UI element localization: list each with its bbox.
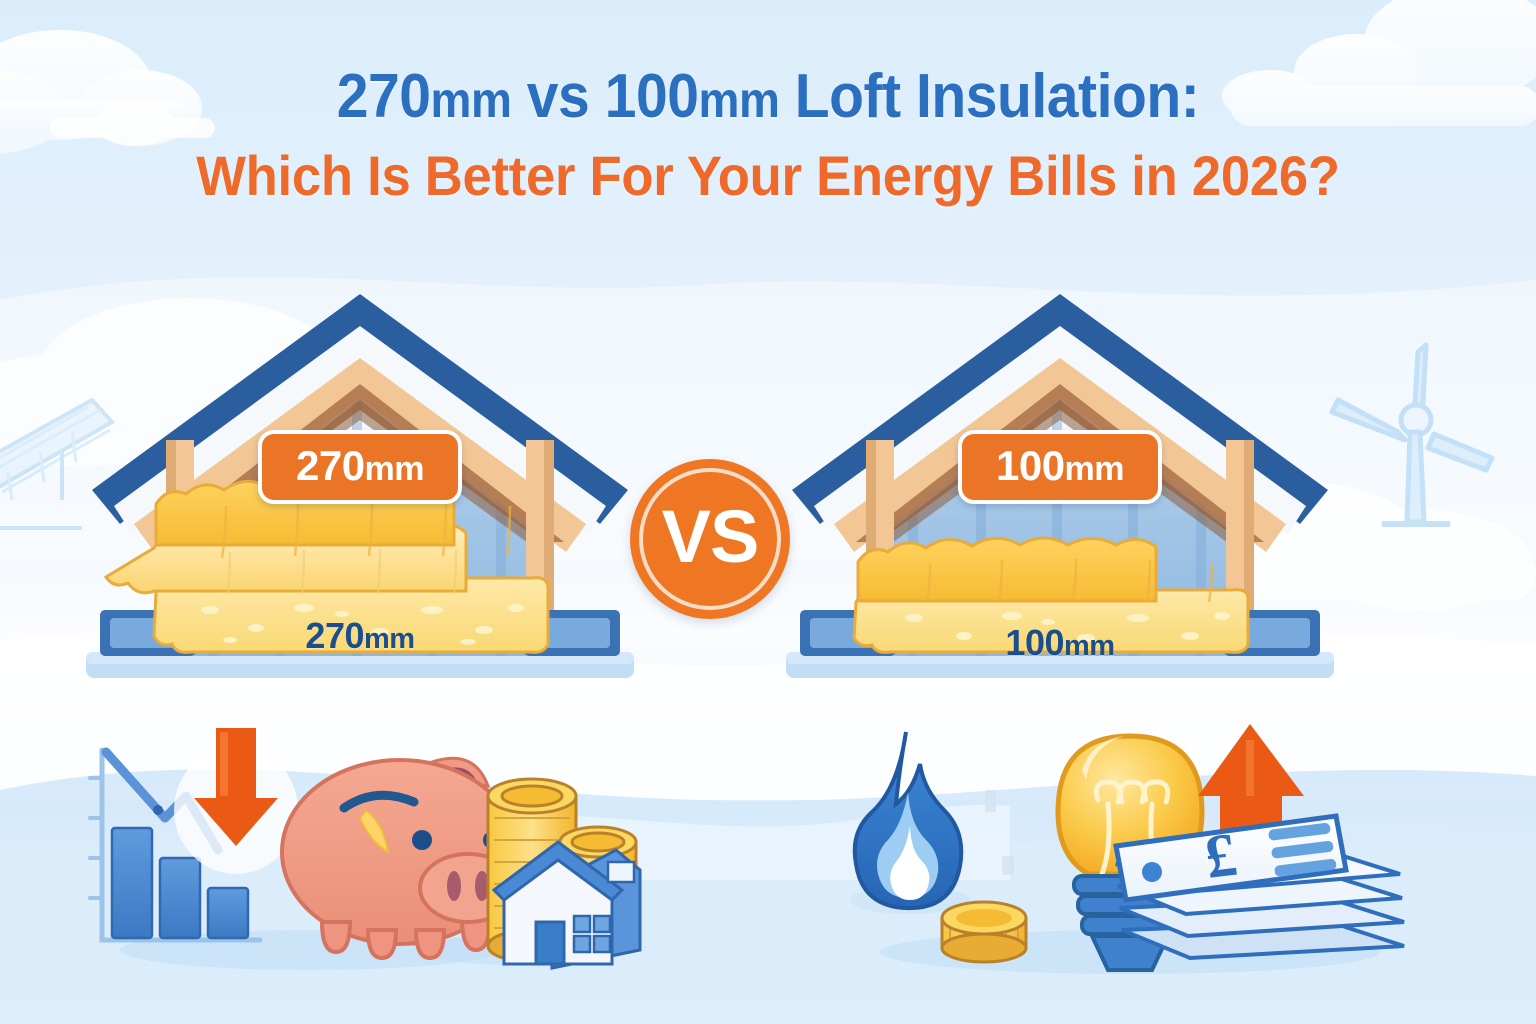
page-title: 270mm vs 100mm Loft Insulation: Which Is… <box>0 64 1536 206</box>
insulation-layer-1 <box>858 538 1156 601</box>
vs-label: VS <box>662 500 759 574</box>
bar-2 <box>160 858 200 938</box>
house-door <box>536 922 564 964</box>
thickness-label-right: 100mm <box>1005 625 1114 661</box>
badge-100mm: 100mm <box>958 430 1162 504</box>
title-value-100: 100 <box>605 62 699 131</box>
title-unit-mm-1: mm <box>431 72 512 128</box>
badge-value: 270mm <box>296 442 424 489</box>
thickness-label-left: 270mm <box>305 618 414 654</box>
bar-3 <box>208 888 248 938</box>
title-line-2: Which Is Better For Your Energy Bills in… <box>46 147 1490 206</box>
rising-cost-scene: £ <box>830 700 1420 1000</box>
coin-icon <box>942 902 1026 962</box>
bill-dot <box>1142 862 1162 882</box>
badge-270mm: 270mm <box>258 430 462 504</box>
title-tail: Loft Insulation: <box>779 62 1199 131</box>
title-line-1: 270mm vs 100mm Loft Insulation: <box>61 64 1474 129</box>
title-vs-word: vs <box>511 62 604 131</box>
title-unit-mm-2: mm <box>698 72 779 128</box>
gas-flame-icon <box>855 732 962 908</box>
piggy-eye-left <box>412 830 432 850</box>
house-270mm: 270mm 270mm <box>80 280 640 700</box>
piggy-bank-icon <box>282 758 518 958</box>
bar-1 <box>112 828 152 938</box>
vs-badge: VS <box>630 459 790 619</box>
savings-scene <box>60 700 640 1000</box>
title-value-270: 270 <box>337 62 431 131</box>
infographic-canvas: 270mm vs 100mm Loft Insulation: Which Is… <box>0 0 1536 1024</box>
bill-lines <box>1268 822 1337 876</box>
house-100mm: 100mm 100mm <box>780 280 1340 700</box>
badge-value: 100mm <box>996 442 1124 489</box>
